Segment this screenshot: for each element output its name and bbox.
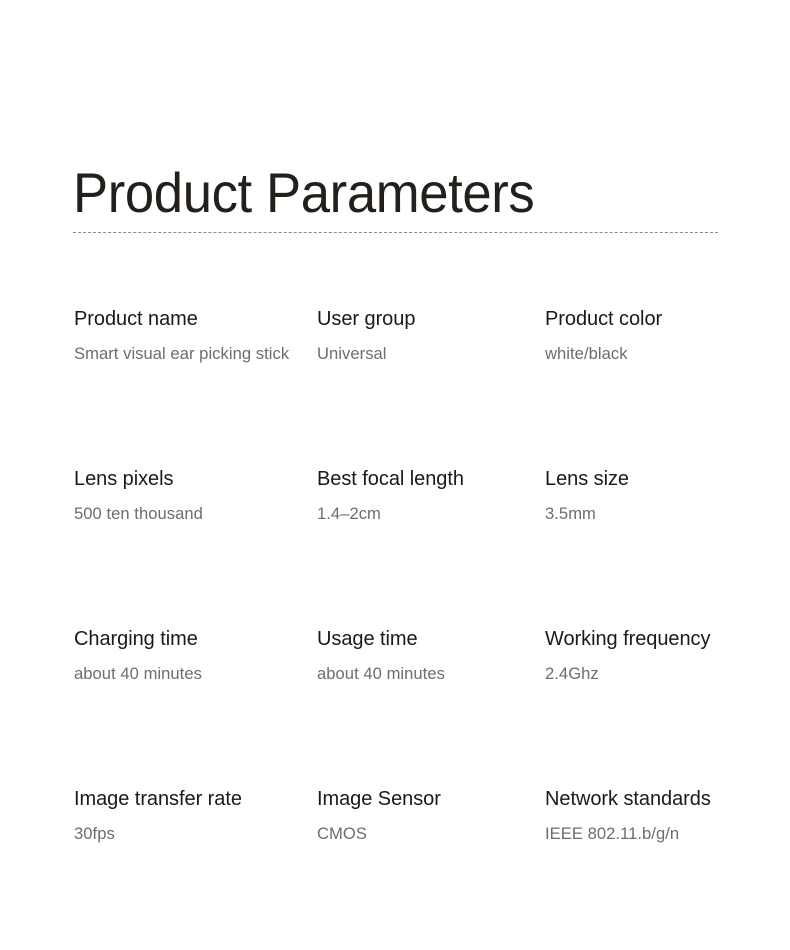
spec-value: about 40 minutes (317, 661, 533, 686)
spec-label: Network standards (545, 786, 774, 812)
spec-label: Best focal length (317, 466, 533, 492)
spec-value: 2.4Ghz (545, 661, 774, 686)
spec-value: 3.5mm (545, 501, 774, 526)
spec-label: Lens pixels (74, 466, 303, 492)
spec-grid: Product name Smart visual ear picking st… (0, 306, 790, 946)
spec-cell-charging-time: Charging time about 40 minutes (74, 626, 309, 686)
spec-cell-product-name: Product name Smart visual ear picking st… (74, 306, 309, 366)
spec-cell-user-group: User group Universal (317, 306, 539, 366)
spec-label: Lens size (545, 466, 774, 492)
spec-cell-image-sensor: Image Sensor CMOS (317, 786, 539, 846)
spec-cell-best-focal-length: Best focal length 1.4–2cm (317, 466, 539, 526)
spec-cell-lens-pixels: Lens pixels 500 ten thousand (74, 466, 309, 526)
spec-cell-product-color: Product color white/black (545, 306, 780, 366)
spec-label: Product name (74, 306, 303, 332)
spec-value: 30fps (74, 821, 303, 846)
spec-value: 1.4–2cm (317, 501, 533, 526)
spec-value: Smart visual ear picking stick (74, 341, 303, 366)
spec-row: Product name Smart visual ear picking st… (0, 306, 790, 466)
product-parameters-page: Product Parameters Product name Smart vi… (0, 0, 790, 950)
title-divider (73, 232, 718, 233)
page-title: Product Parameters (73, 164, 534, 223)
spec-cell-working-frequency: Working frequency 2.4Ghz (545, 626, 780, 686)
spec-value: white/black (545, 341, 774, 366)
spec-row: Lens pixels 500 ten thousand Best focal … (0, 466, 790, 626)
spec-cell-image-transfer-rate: Image transfer rate 30fps (74, 786, 309, 846)
spec-label: Product color (545, 306, 774, 332)
spec-label: Usage time (317, 626, 533, 652)
spec-value: about 40 minutes (74, 661, 303, 686)
spec-row: Charging time about 40 minutes Usage tim… (0, 626, 790, 786)
spec-label: User group (317, 306, 533, 332)
spec-value: 500 ten thousand (74, 501, 303, 526)
spec-label: Image transfer rate (74, 786, 303, 812)
spec-label: Charging time (74, 626, 303, 652)
spec-value: Universal (317, 341, 533, 366)
spec-value: IEEE 802.11.b/g/n (545, 821, 774, 846)
spec-label: Image Sensor (317, 786, 533, 812)
spec-value: CMOS (317, 821, 533, 846)
spec-cell-usage-time: Usage time about 40 minutes (317, 626, 539, 686)
spec-label: Working frequency (545, 626, 774, 652)
spec-cell-lens-size: Lens size 3.5mm (545, 466, 780, 526)
spec-row: Image transfer rate 30fps Image Sensor C… (0, 786, 790, 946)
spec-cell-network-standards: Network standards IEEE 802.11.b/g/n (545, 786, 780, 846)
